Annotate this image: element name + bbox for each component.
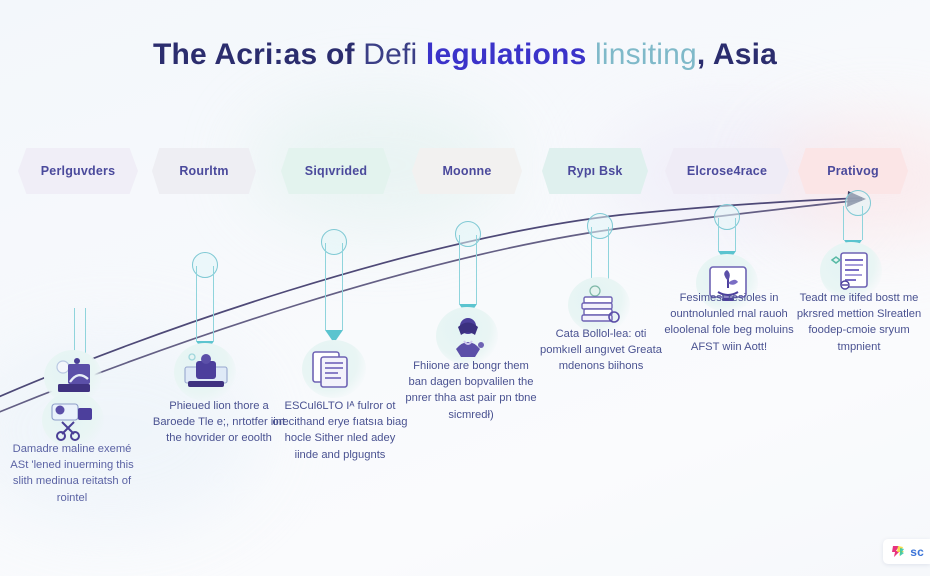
infographic-canvas: The Acri:as of Defi legulations linsitin… [0, 0, 930, 576]
watermark-badge[interactable]: sc [883, 539, 930, 564]
drop-arrow-3 [325, 243, 343, 343]
colorful-leaf-logo-icon [891, 544, 906, 559]
column-description-7: Teadt me itifed bostt me pkrsred mettion… [794, 290, 924, 355]
column-description-1: Damadre maline exemé ASt 'lened inuermin… [8, 441, 136, 506]
column-description-4: Fhiione are bongr them ban dagen bopvali… [405, 358, 537, 423]
column-description-3: ESCul6LTO Iᴬ fulror ot orecithand erye f… [272, 398, 408, 463]
column-description-2: Phieued lion thore a Baroede Tle e;, nrt… [152, 398, 286, 447]
drop-arrow-2 [196, 266, 214, 354]
column-description-6: Fesimest resioles in ountnolunled rnal r… [662, 290, 796, 355]
column-description-5: Cata Bollol-lea: oti pomkıell aıngıvet G… [534, 326, 668, 375]
drop-arrow-4 [459, 235, 477, 317]
watermark-label: sc [910, 545, 924, 559]
